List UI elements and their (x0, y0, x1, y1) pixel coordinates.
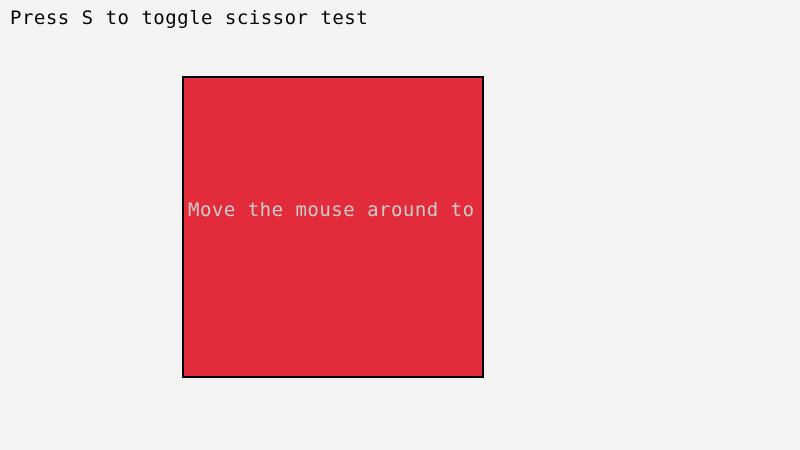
scissor-region-rect[interactable]: Move the mouse around to r (182, 76, 484, 378)
scissor-toggle-instruction: Press S to toggle scissor test (10, 6, 368, 30)
app-canvas[interactable]: Press S to toggle scissor test Move the … (0, 0, 800, 450)
scissor-clipped-text: Move the mouse around to r (188, 199, 484, 221)
